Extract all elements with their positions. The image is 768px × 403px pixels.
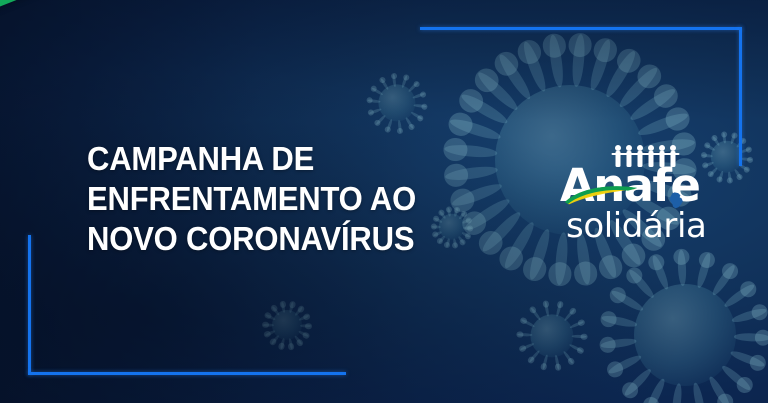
bracket-bottom-left-vertical [28, 235, 31, 375]
bracket-bottom-left-horizontal [28, 372, 346, 375]
page-title-line-1: CAMPANHA DE [87, 139, 416, 179]
anafe-solidaria-logo: Anafe solidária [560, 145, 718, 255]
logo-tagline: solidária [566, 205, 707, 247]
page-title-line-2: ENFRENTAMENTO AO [87, 179, 416, 219]
bracket-top-right-horizontal [420, 27, 742, 30]
campaign-banner: ENCERRADA COM SUCESSO CAMPANHA DE ENFREN… [0, 0, 768, 403]
anafe-wordmark-group: Anafe [560, 161, 718, 211]
bracket-top-right-vertical [739, 27, 742, 166]
page-title-line-3: NOVO CORONAVÍRUS [87, 219, 416, 259]
page-title: CAMPANHA DE ENFRENTAMENTO AO NOVO CORONA… [87, 139, 416, 259]
